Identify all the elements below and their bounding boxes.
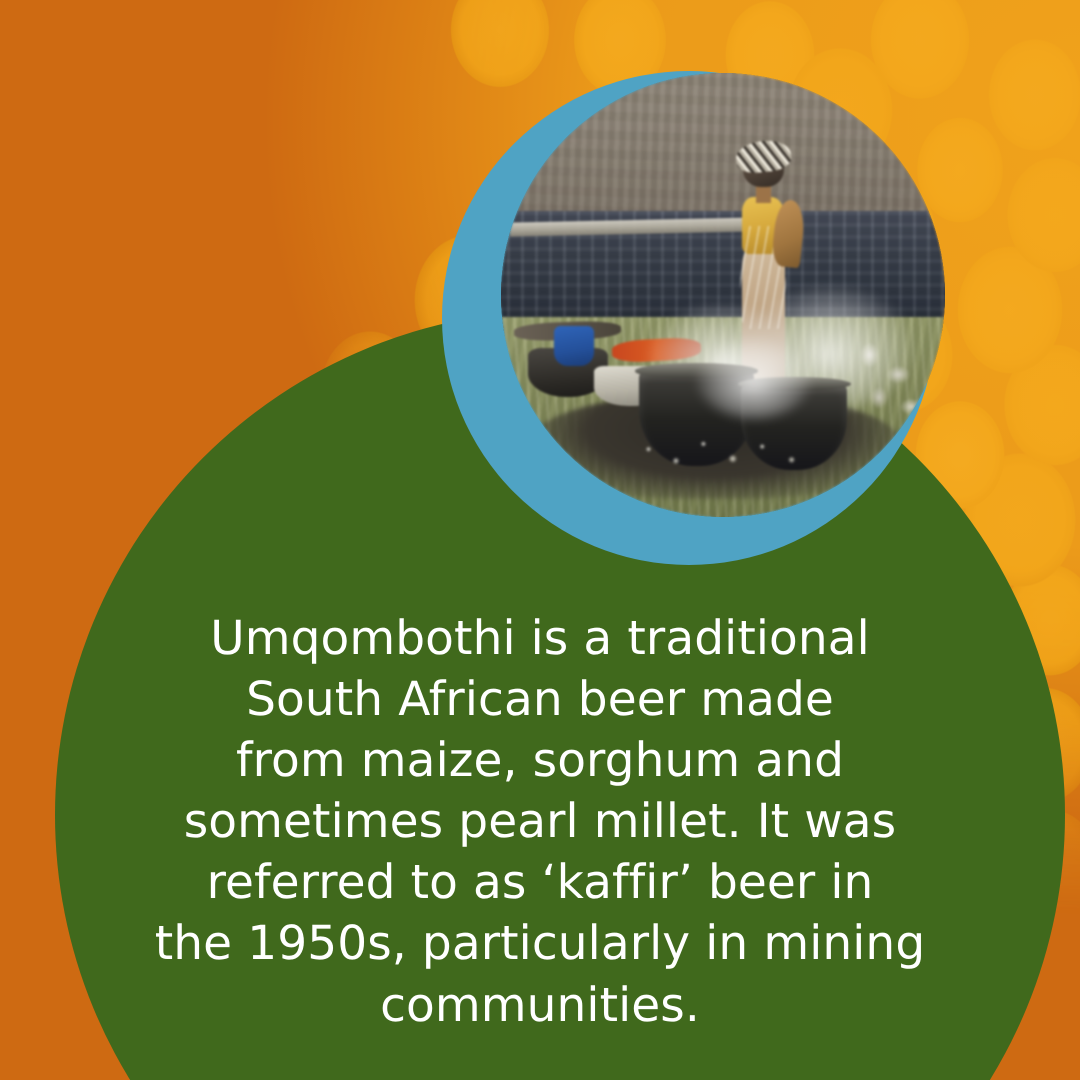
brewing-photo: [501, 73, 945, 517]
caption-text: Umqombothi is a traditional South Africa…: [120, 608, 960, 1036]
photo-scene: [501, 73, 945, 517]
blue-bucket: [554, 326, 594, 366]
infographic-canvas: Umqombothi is a traditional South Africa…: [0, 0, 1080, 1080]
burning-coals: [625, 428, 820, 481]
steam-plume: [696, 339, 811, 419]
